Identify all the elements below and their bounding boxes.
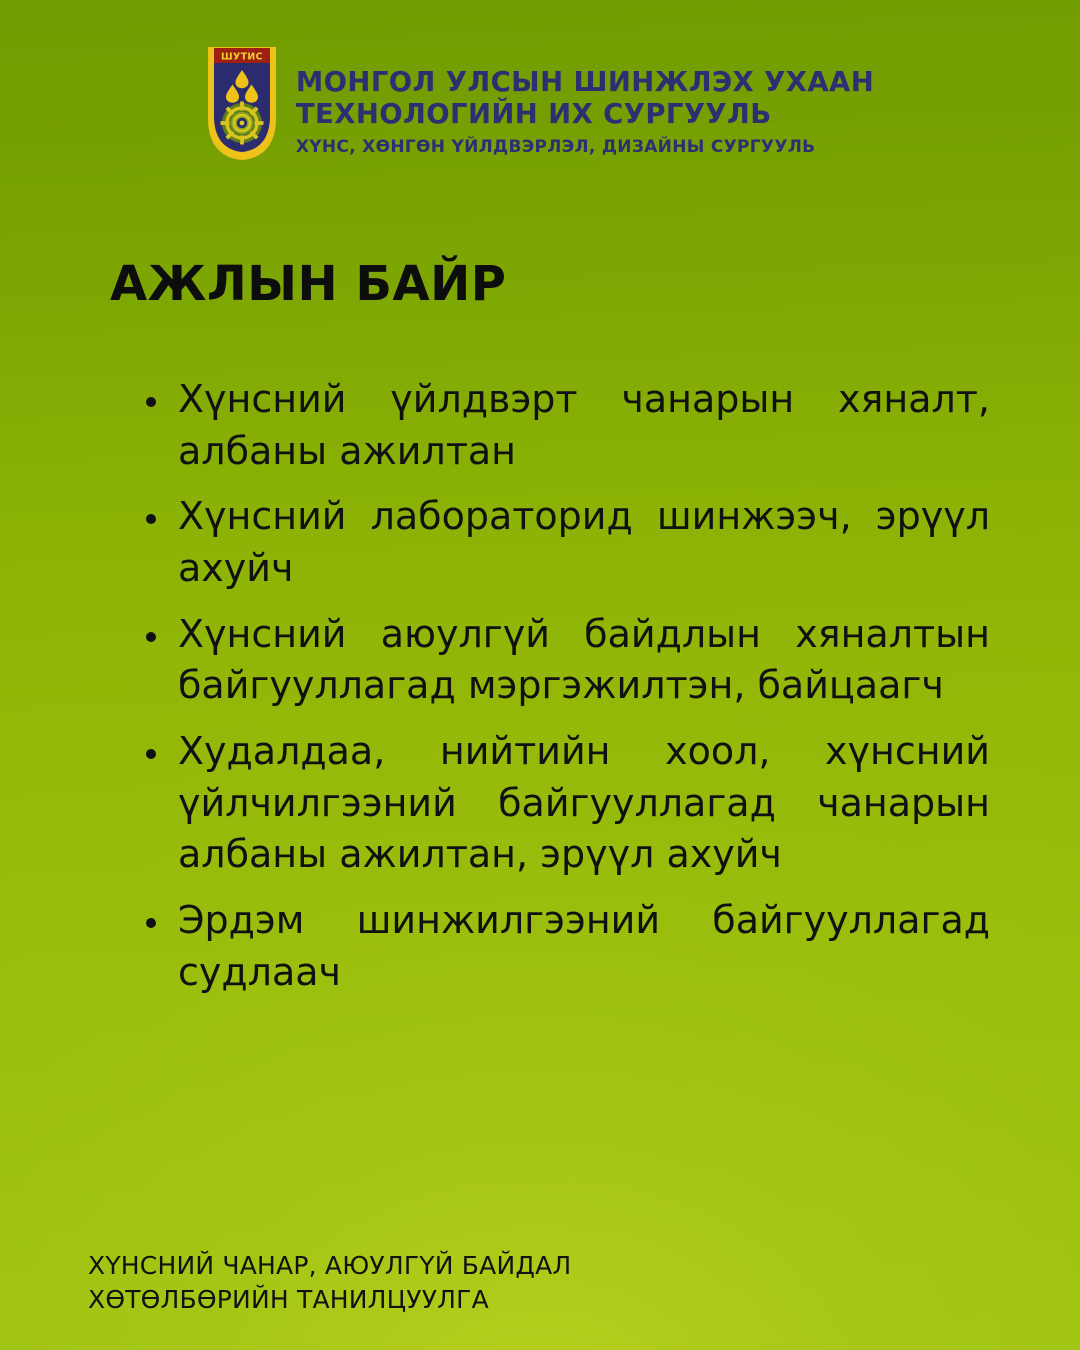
presentation-slide: ШУТИС	[0, 0, 1080, 1350]
list-item: Эрдэм шинжилгээний байгууллагад судлаач	[140, 895, 990, 998]
university-name-block: МОНГОЛ УЛСЫН ШИНЖЛЭХ УХААН ТЕХНОЛОГИЙН И…	[296, 44, 874, 157]
org-name-line-1: МОНГОЛ УЛСЫН ШИНЖЛЭХ УХААН	[296, 66, 874, 98]
university-logo-lockup: ШУТИС	[206, 44, 874, 162]
footer-line-2: ХӨТӨЛБӨРИЙН ТАНИЛЦУУЛГА	[88, 1283, 571, 1317]
school-name-line: ХҮНС, ХӨНГӨН ҮЙЛДВЭРЛЭЛ, ДИЗАЙНЫ СУРГУУЛ…	[296, 137, 874, 157]
job-positions-list: Хүнсний үйлдвэрт чанарын хяналт, албаны …	[140, 374, 990, 1012]
footer-line-1: ХҮНСНИЙ ЧАНАР, АЮУЛГҮЙ БАЙДАЛ	[88, 1249, 571, 1283]
svg-text:ШУТИС: ШУТИС	[221, 52, 263, 63]
list-item: Худалдаа, нийтийн хоол, хүнсний үйлчилгэ…	[140, 726, 990, 881]
list-item: Хүнсний үйлдвэрт чанарын хяналт, албаны …	[140, 374, 990, 477]
page-title: АЖЛЫН БАЙР	[110, 256, 506, 312]
org-name-line-2: ТЕХНОЛОГИЙН ИХ СУРГУУЛЬ	[296, 98, 874, 130]
list-item: Хүнсний аюулгүй байдлын хяналтын байгуул…	[140, 609, 990, 712]
slide-header: ШУТИС	[0, 44, 1080, 162]
shutis-crest-icon: ШУТИС	[206, 44, 278, 162]
list-item: Хүнсний лабораторид шинжээч, эрүүл ахуйч	[140, 491, 990, 594]
slide-footer: ХҮНСНИЙ ЧАНАР, АЮУЛГҮЙ БАЙДАЛ ХӨТӨЛБӨРИЙ…	[88, 1249, 571, 1316]
